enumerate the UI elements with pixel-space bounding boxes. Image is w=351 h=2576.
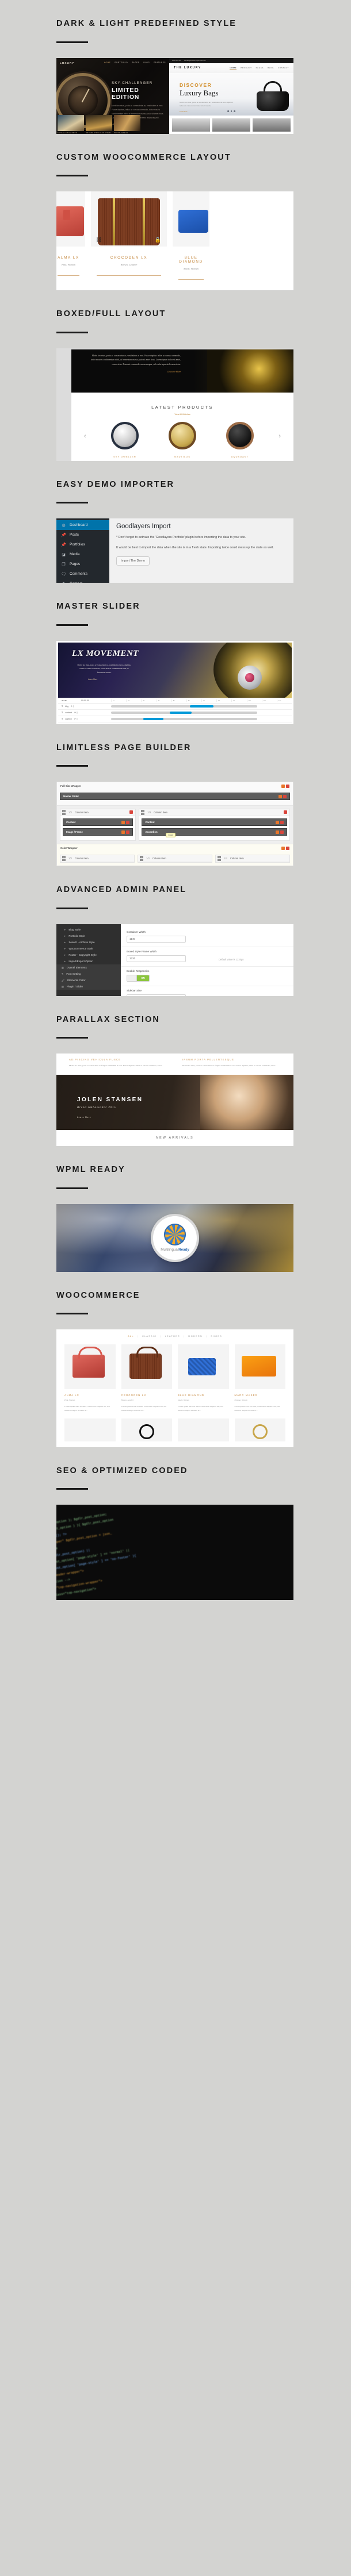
- product-filters: ALL| CLASSIC| LEATHER| MODERN| SHOES: [64, 1335, 285, 1337]
- dashboard-icon: ◍: [61, 523, 66, 528]
- light-menu-item-blog[interactable]: BLOG: [268, 67, 274, 70]
- builder-column[interactable]: +− 1/3 Column Item: [138, 855, 212, 863]
- field-enable-responsive: Enable Responsive ON: [121, 967, 293, 986]
- title-rule: [56, 624, 88, 626]
- product-grid-row-2: [64, 1418, 285, 1441]
- light-thumb-row: [169, 116, 293, 132]
- topbar-email: contact@theluxurywptheme.com: [184, 60, 206, 61]
- title-rule: [56, 332, 88, 333]
- compare-icon[interactable]: ⛓: [96, 237, 102, 243]
- caret-icon: ➤: [64, 960, 66, 963]
- menu-label: Font Setting: [66, 972, 81, 975]
- grid-icon: ▥: [62, 966, 64, 969]
- dark-headline: LIMITED EDITION: [112, 87, 166, 101]
- column-header[interactable]: +− 2/3 Column Item: [139, 809, 289, 816]
- column-header[interactable]: +− 1/3 Column Item: [60, 855, 134, 862]
- product-card[interactable]: [121, 1418, 173, 1441]
- light-menu-item-home[interactable]: HOME: [230, 67, 236, 70]
- product-image: [56, 191, 85, 247]
- menu-item-woocommerce-style[interactable]: ➤Woocommerce Style: [56, 945, 121, 952]
- menu-label: Blog Style: [68, 928, 81, 931]
- product-category: Orange, Women: [235, 1399, 286, 1401]
- product-image: [178, 1418, 229, 1441]
- product-image: [121, 1418, 173, 1441]
- divider: [97, 275, 161, 276]
- container-width-input[interactable]: 1140: [127, 936, 186, 943]
- thumb-image-1[interactable]: [58, 115, 84, 131]
- intro-column: IPSUM PORTA PELLENTESQUE Morbi leo risus…: [182, 1058, 281, 1068]
- master-slider-screenshot: LX MOVEMENT Morbi leo risus, porta ac co…: [56, 641, 293, 724]
- product-name: BLUE DIAMOND: [178, 1394, 229, 1397]
- badge-text-ready: Ready: [178, 1248, 189, 1252]
- model-photo: [200, 1075, 293, 1130]
- product-name: NAUTILUS: [163, 455, 201, 458]
- sidebar-item-posts[interactable]: 📌 Posts: [56, 530, 109, 540]
- light-menu-item-product[interactable]: PRODUCT: [241, 67, 252, 70]
- delete-icon[interactable]: [284, 810, 287, 814]
- caret-icon: ➤: [64, 935, 66, 937]
- title-rule: [56, 41, 88, 43]
- thumb-image-3[interactable]: [114, 115, 140, 131]
- section-title: BOXED/FULL LAYOUT: [56, 290, 351, 318]
- gear-image: [207, 349, 293, 393]
- divider: [58, 275, 79, 276]
- product-card[interactable]: ALMA LX Pink, Women Lorem ipsum dolor si…: [64, 1344, 116, 1413]
- menu-label: Search - Archive Style: [68, 941, 94, 944]
- product-name: SKY DWELLER: [106, 455, 144, 458]
- divider: [178, 279, 204, 280]
- section-header: BOXED/FULL LAYOUT: [0, 290, 351, 333]
- product-card[interactable]: [64, 1418, 116, 1441]
- filter-shoes[interactable]: SHOES: [211, 1335, 222, 1337]
- product-card[interactable]: [178, 1418, 229, 1441]
- section-parallax: PARALLAX SECTION ADIPISCING VEHICULA FUS…: [0, 996, 351, 1147]
- dark-menu-item-home[interactable]: HOME: [104, 61, 111, 64]
- builder-column[interactable]: +− 2/3 Column Item Content Accordion: [139, 809, 290, 841]
- importer-panel: Goodlayers Import * Don't forget to acti…: [109, 518, 293, 583]
- thumb-image-2[interactable]: [86, 115, 112, 131]
- seo-screenshot: $gdlr_page_option ); $gdlr_post_option; …: [56, 1505, 293, 1600]
- section-title: WPML READY: [56, 1146, 351, 1174]
- light-menu-item-pages[interactable]: PAGES: [256, 67, 264, 70]
- builder-module-master-slider[interactable]: Master Slider: [60, 793, 290, 800]
- dark-kicker: SKY-CHALLENGER: [112, 81, 166, 85]
- title-rule: [56, 765, 88, 767]
- dark-menu-item-pages[interactable]: PAGES: [132, 61, 139, 64]
- menu-label: Elements Color: [67, 979, 85, 982]
- builder-module-content[interactable]: Content: [63, 818, 133, 826]
- product-subtitle: Brown, Leather: [91, 263, 167, 266]
- woocommerce-layout-screenshot: ALMA LX Pink, Women ⛓ 🔒 CROCODEN LX Brow…: [56, 191, 293, 290]
- slider-stage: LX MOVEMENT Morbi leo risus, porta ac co…: [58, 643, 292, 698]
- slide-title: LX MOVEMENT: [72, 649, 139, 659]
- light-paragraph: Morbi leo risus, porta ac consectetur ac…: [180, 101, 236, 108]
- menu-label: Portfolio Style: [68, 935, 85, 937]
- builder-column[interactable]: +− 1/3 Column Item: [215, 855, 290, 863]
- delete-icon[interactable]: [280, 821, 284, 824]
- watch-image: [226, 422, 254, 449]
- parallax-learn-more-link[interactable]: Learn More: [77, 1116, 91, 1118]
- settings-icon[interactable]: [121, 821, 125, 824]
- multilingual-ready-badge: MultilingualReady: [153, 1216, 197, 1260]
- dark-style-preview: LUXURY HOME PORTFOLIO PAGES BLOG FEATURE…: [56, 58, 169, 134]
- parallax-intro-columns: ADIPISCING VEHICULA FUSCE Morbi leo risu…: [56, 1054, 293, 1075]
- section-header: LIMITLESS PAGE BUILDER: [0, 724, 351, 767]
- section-master-slider: MASTER SLIDER LX MOVEMENT Morbi leo risu…: [0, 583, 351, 724]
- column-header[interactable]: +− 1/3 Column Item: [216, 855, 289, 862]
- section-title: DARK & LIGHT PREDEFINED STYLE: [56, 0, 351, 28]
- product-title: CROCODEN LX: [91, 256, 167, 260]
- pin-icon: 📌: [61, 533, 66, 537]
- title-rule: [56, 175, 88, 176]
- demo-importer-screenshot: ◍ Dashboard 📌 Posts 📌 Portfolios ◪ Media…: [56, 518, 293, 583]
- product-title: BLUE DIAMOND: [173, 256, 209, 264]
- timecode: 00:00.00: [81, 699, 111, 702]
- product-card[interactable]: BLUE DIAMOND Small, Women: [173, 191, 209, 290]
- product-category: Small, Women: [178, 1399, 229, 1401]
- builder-columns: +− 1/3 Column Item Content Image / Fr: [57, 806, 293, 844]
- product-subtitle: Pink, Women: [56, 263, 85, 266]
- column-label: Column Item: [75, 811, 89, 814]
- color-wrapper: Color Wrapper +− 1/3 Column Item: [57, 844, 293, 866]
- menu-label: Woocommerce Style: [68, 947, 93, 950]
- title-rule: [56, 1037, 88, 1039]
- delete-icon[interactable]: [126, 821, 129, 824]
- layer-options-icon[interactable]: ⟳ ▯: [74, 712, 78, 714]
- module-label: Content: [145, 821, 154, 824]
- column-fraction: 1/3: [224, 857, 227, 860]
- product-name: MARC MASER: [235, 1394, 286, 1397]
- product-item[interactable]: NAUTILUS Identity, Sport, Website: [163, 422, 201, 461]
- menu-item-search-archive-style[interactable]: ➤Search - Archive Style: [56, 939, 121, 945]
- menu-item-import-export-option[interactable]: ➤Import/Export Option: [56, 958, 121, 964]
- toggle-state: ON: [137, 975, 149, 981]
- sidebar-item-pages[interactable]: ❐ Pages: [56, 559, 109, 569]
- sidebar-item-media[interactable]: ◪ Media: [56, 549, 109, 559]
- settings-icon[interactable]: [121, 831, 125, 834]
- product-category: Pink, Women: [64, 1399, 116, 1401]
- section-header: CUSTOM WOOCOMMERCE LAYOUT: [0, 134, 351, 177]
- caret-icon: ➤: [64, 947, 66, 950]
- import-demo-button[interactable]: Import The Demo: [116, 556, 150, 566]
- dark-light-screenshot: LUXURY HOME PORTFOLIO PAGES BLOG FEATURE…: [56, 58, 293, 134]
- light-nav: THE LUXURY HOME PRODUCT PAGES BLOG CONTA…: [169, 63, 293, 73]
- prev-arrow-icon[interactable]: ‹: [84, 433, 86, 440]
- boxed-discover-link[interactable]: Discover More: [71, 371, 181, 373]
- product-card[interactable]: BLUE DIAMOND Small, Women Lorem ipsum do…: [178, 1344, 229, 1413]
- section-title: EASY DEMO IMPORTER: [56, 461, 351, 489]
- product-subtitle: Small, Women: [173, 267, 209, 270]
- menu-item-font-setting[interactable]: ✎Font Setting: [56, 971, 121, 977]
- field-label: Boxed Style Frame Width: [127, 950, 213, 953]
- section-woocommerce: WOOCOMMERCE ALL| CLASSIC| LEATHER| MODER…: [0, 1272, 351, 1447]
- product-image: [64, 1344, 116, 1389]
- product-image: [64, 1418, 116, 1441]
- column-label: Column Item: [154, 811, 167, 814]
- layer-options-icon[interactable]: ⟳ ▯: [71, 705, 74, 708]
- product-item[interactable]: AQUADANT Leather, Sport, Website: [221, 422, 259, 461]
- lock-icon[interactable]: 🔒: [155, 237, 161, 243]
- product-item[interactable]: SKY DWELLER Fashion, Photograph, Website: [106, 422, 144, 461]
- column-size-stepper[interactable]: +−: [140, 856, 143, 862]
- color-wrapper-label: Color Wrapper: [60, 847, 78, 849]
- menu-label: Import/Export Option: [68, 960, 93, 963]
- menu-label: Plugin / Slider: [67, 985, 83, 988]
- light-topbar: 0800 222 222 contact@theluxurywptheme.co…: [169, 58, 293, 63]
- layer-name: caption: [65, 718, 72, 720]
- menu-item-plugin-slider[interactable]: ▤Plugin / Slider: [56, 983, 121, 990]
- menu-item-footer-copyright-style[interactable]: ➤Footer - Copyright Style: [56, 952, 121, 958]
- section-header: EASY DEMO IMPORTER: [0, 461, 351, 504]
- comment-icon: 🗨: [61, 572, 66, 576]
- product-title: ALMA LX: [56, 256, 85, 260]
- watch-image: [169, 422, 196, 449]
- layer-options-icon[interactable]: ⟳ ▯: [74, 718, 78, 720]
- section-header: WPML READY: [0, 1146, 351, 1189]
- column-label: Column Item: [152, 857, 166, 860]
- color-wrapper-header[interactable]: Color Wrapper: [57, 844, 293, 852]
- settings-icon[interactable]: [276, 831, 279, 834]
- filter-leather[interactable]: LEATHER: [165, 1335, 180, 1337]
- light-thumb-3[interactable]: [253, 118, 291, 132]
- product-name: ALMA LX: [64, 1394, 116, 1397]
- layer-name: bkg: [65, 705, 68, 708]
- wrapper-header[interactable]: Full Size Wrapper: [57, 782, 293, 790]
- sidebar-label: Pages: [70, 562, 80, 566]
- delete-icon[interactable]: [129, 810, 133, 814]
- column-size-stepper[interactable]: +−: [62, 856, 66, 862]
- section-header: ADVANCED ADMIN PANEL: [0, 866, 351, 909]
- column-size-stepper[interactable]: +−: [218, 856, 221, 862]
- title-rule: [56, 1313, 88, 1314]
- builder-wrapper: Full Size Wrapper Master Slider: [57, 782, 293, 806]
- light-style-preview: 0800 222 222 contact@theluxurywptheme.co…: [169, 58, 293, 134]
- intro-text: Morbi leo risus, porta ac consectetur ac…: [182, 1064, 281, 1068]
- title-rule: [56, 1488, 88, 1490]
- light-slider-dots[interactable]: [227, 110, 235, 112]
- sidebar-item-portfolios[interactable]: 📌 Portfolios: [56, 540, 109, 549]
- dark-menu-item-portfolio[interactable]: PORTFOLIO: [115, 61, 128, 64]
- wpml-screenshot: MultilingualReady: [56, 1204, 293, 1272]
- bottom-spacer: [0, 1600, 351, 1625]
- timeline-track[interactable]: [111, 718, 257, 720]
- light-hero: DISCOVER Luxury Bags Morbi leo risus, po…: [169, 73, 293, 116]
- light-thumb-1[interactable]: [172, 118, 210, 132]
- product-card[interactable]: CROCODEN LX Brown, Leather Lorem ipsum d…: [121, 1344, 173, 1413]
- column-fraction: 1/3: [68, 811, 72, 814]
- sidebar-item-dashboard[interactable]: ◍ Dashboard: [56, 520, 109, 530]
- delete-icon[interactable]: [286, 785, 289, 788]
- admin-panel-screenshot: ➤Blog Style ➤Portfolio Style ➤Search - A…: [56, 924, 293, 996]
- menu-item-overall-elements[interactable]: ▥Overall Elements: [56, 964, 121, 971]
- new-arrivals-heading: NEW ARRIVALS: [56, 1130, 293, 1146]
- caret-icon: ➤: [64, 941, 66, 944]
- light-kicker: DISCOVER: [180, 82, 236, 88]
- column-header[interactable]: +− 1/3 Column Item: [60, 809, 135, 816]
- dark-menu: HOME PORTFOLIO PAGES BLOG FEATURES: [104, 61, 166, 64]
- builder-column[interactable]: +− 1/3 Column Item Content Image / Fr: [60, 809, 136, 841]
- plugin-icon: ▤: [62, 985, 64, 988]
- pages-icon: ❐: [61, 562, 66, 567]
- menu-label: Overall Elements: [67, 966, 87, 969]
- sidebar-label: Dashboard: [70, 523, 87, 527]
- timeline-track[interactable]: [111, 705, 257, 708]
- product-image: [173, 191, 209, 247]
- sidebar-label: Comments: [70, 572, 87, 576]
- dark-logo: LUXURY: [60, 61, 74, 64]
- section-header: WOOCOMMERCE: [0, 1272, 351, 1315]
- timeline-row[interactable]: Tbkg ⟳ ▯: [58, 703, 292, 710]
- timeline-ticks: 1s2s 3s4s 5s6s 7s8s 9s10s 11s12s: [111, 699, 292, 702]
- product-description: Lorem ipsum dolor sit amet, consectetur …: [121, 1405, 173, 1413]
- intro-text: Morbi leo risus, porta ac consectetur ac…: [69, 1064, 167, 1068]
- intro-column: ADIPISCING VEHICULA FUSCE Morbi leo risu…: [69, 1058, 167, 1068]
- column-header[interactable]: +− 1/3 Column Item: [138, 855, 212, 862]
- product-card[interactable]: [235, 1418, 286, 1441]
- product-image: [178, 1344, 229, 1389]
- slide-learn-more-link[interactable]: Learn More: [88, 678, 97, 680]
- light-hero-copy: DISCOVER Luxury Bags Morbi leo risus, po…: [180, 82, 236, 113]
- light-menu: HOME PRODUCT PAGES BLOG CONTACT: [230, 67, 289, 70]
- sidebar-label: Posts: [70, 533, 79, 537]
- sidebar-label: Media: [70, 552, 79, 556]
- light-logo: THE LUXURY: [174, 66, 201, 70]
- timeline-row[interactable]: Tcontent ⟳ ▯: [58, 710, 292, 716]
- product-category: Brown, Leather: [121, 1399, 173, 1401]
- wp-admin-sidebar: ◍ Dashboard 📌 Posts 📌 Portfolios ◪ Media…: [56, 518, 109, 583]
- enable-responsive-toggle[interactable]: ON: [127, 975, 150, 982]
- module-label: Image / Frame: [66, 831, 83, 833]
- settings-icon[interactable]: [281, 785, 285, 788]
- parallax-screenshot: ADIPISCING VEHICULA FUSCE Morbi leo risu…: [56, 1054, 293, 1146]
- filter-all[interactable]: ALL: [128, 1335, 134, 1337]
- wrapper-label: Full Size Wrapper: [60, 785, 81, 787]
- builder-module-content[interactable]: Content: [142, 818, 287, 826]
- section-demo-importer: EASY DEMO IMPORTER ◍ Dashboard 📌 Posts 📌…: [0, 461, 351, 583]
- settings-icon[interactable]: [278, 795, 282, 798]
- section-title: ADVANCED ADMIN PANEL: [56, 866, 351, 894]
- topbar-phone: 0800 222 222: [172, 60, 181, 61]
- caret-icon: ➤: [64, 928, 66, 931]
- globe-icon: [164, 1224, 186, 1245]
- field-label: Enable Responsive: [127, 970, 213, 972]
- section-wpml: WPML READY MultilingualReady: [0, 1146, 351, 1272]
- ambassador-name: JOLEN STANSEN: [77, 1097, 143, 1103]
- filter-classic[interactable]: CLASSIC: [142, 1335, 157, 1337]
- section-dark-light: DARK & LIGHT PREDEFINED STYLE LUXURY HOM…: [0, 0, 351, 134]
- column-label: Column Item: [75, 857, 89, 860]
- woocommerce-screenshot: ALL| CLASSIC| LEATHER| MODERN| SHOES ALM…: [56, 1329, 293, 1447]
- light-menu-item-contact[interactable]: CONTACT: [278, 67, 289, 70]
- product-card[interactable]: MARC MASER Orange, Women Lorem ipsum dol…: [235, 1344, 286, 1413]
- section-woocommerce-layout: CUSTOM WOOCOMMERCE LAYOUT ALMA LX Pink, …: [0, 134, 351, 291]
- section-title: CUSTOM WOOCOMMERCE LAYOUT: [56, 134, 351, 162]
- product-grid: ALMA LX Pink, Women Lorem ipsum dolor si…: [64, 1344, 285, 1413]
- module-label: Accordion: [145, 831, 157, 833]
- timeline-controls[interactable]: ●●■: [58, 699, 81, 702]
- section-title: WOOCOMMERCE: [56, 1272, 351, 1300]
- product-image: [235, 1418, 286, 1441]
- badge-text-multilingual: Multilingual: [161, 1248, 178, 1252]
- filter-modern[interactable]: MODERN: [188, 1335, 203, 1337]
- intro-title: ADIPISCING VEHICULA FUSCE: [69, 1058, 167, 1061]
- builder-module-image-frame[interactable]: Image / Frame: [63, 828, 133, 836]
- close-tooltip: Close: [166, 833, 175, 837]
- section-boxed-full: BOXED/FULL LAYOUT Morbi leo risus, porta…: [0, 290, 351, 461]
- timeline-track[interactable]: [111, 712, 257, 714]
- column-size-stepper[interactable]: +−: [62, 810, 66, 816]
- light-thumb-2[interactable]: [212, 118, 250, 132]
- boxed-intro-text: Morbi leo risus, porta ac consectetur ac…: [71, 349, 181, 368]
- field-boxed-style-frame-width: Boxed Style Frame Width 1220 Default val…: [121, 947, 293, 967]
- title-rule: [56, 502, 88, 503]
- timeline-header: ●●■ 00:00.00 1s2s 3s4s 5s6s 7s8s 9s10s 1…: [58, 698, 292, 703]
- product-image: ⛓ 🔒: [91, 191, 167, 247]
- menu-item-portfolio-style[interactable]: ➤Portfolio Style: [56, 933, 121, 939]
- section-title: MASTER SLIDER: [56, 583, 351, 611]
- menu-item-blog-style[interactable]: ➤Blog Style: [56, 926, 121, 933]
- column-size-stepper[interactable]: +−: [141, 810, 144, 816]
- menu-item-elements-color[interactable]: 🖌Elements Color: [56, 977, 121, 983]
- section-header: DARK & LIGHT PREDEFINED STYLE: [0, 0, 351, 43]
- slide-body: Morbi leo risus, porta ac consectetur ac…: [75, 663, 133, 675]
- delete-icon[interactable]: [126, 831, 129, 834]
- field-sidebar-size: Sidebar Size 300: [121, 986, 293, 996]
- view-all-watches-link[interactable]: View All Watches: [71, 413, 293, 416]
- caret-icon: ➤: [64, 953, 66, 956]
- product-description: Lorem ipsum dolor sit amet, consectetur …: [64, 1405, 116, 1413]
- sidebar-item-contact[interactable]: ⚙ Contact: [56, 579, 109, 583]
- watch-image: [111, 422, 139, 449]
- dark-nav: LUXURY HOME PORTFOLIO PAGES BLOG FEATURE…: [56, 58, 169, 66]
- section-title: PARALLAX SECTION: [56, 996, 351, 1024]
- handbag-image: [257, 81, 289, 111]
- parallax-hero: JOLEN STANSEN Brand Ambassador 2015 Lear…: [56, 1075, 293, 1130]
- delete-icon[interactable]: [286, 847, 289, 850]
- next-arrow-icon[interactable]: ›: [278, 433, 281, 440]
- latest-products-band: LATEST PRODUCTS View All Watches ‹ › SKY…: [71, 393, 293, 461]
- pin-icon: 📌: [61, 543, 66, 547]
- builder-module-accordion[interactable]: Accordion: [142, 828, 287, 836]
- latest-products-heading: LATEST PRODUCTS: [71, 393, 293, 410]
- product-card[interactable]: ALMA LX Pink, Women: [56, 191, 85, 290]
- builder-column[interactable]: +− 1/3 Column Item: [60, 855, 135, 863]
- delete-icon[interactable]: [283, 795, 287, 798]
- product-description: Lorem ipsum dolor sit amet, consectetur …: [235, 1405, 286, 1413]
- product-card[interactable]: ⛓ 🔒 CROCODEN LX Brown, Leather: [91, 191, 167, 290]
- timeline-row[interactable]: Tcaption ⟳ ▯: [58, 716, 292, 722]
- boxed-intro-band: Morbi leo risus, porta ac consectetur ac…: [71, 349, 293, 393]
- delete-icon[interactable]: [280, 831, 284, 834]
- column-fraction: 1/3: [68, 857, 72, 860]
- intro-title: IPSUM PORTA PELLENTESQUE: [182, 1058, 281, 1061]
- page-builder-screenshot: Full Size Wrapper Master Slider: [56, 782, 293, 866]
- sidebar-item-comments[interactable]: 🗨 Comments: [56, 569, 109, 579]
- field-container-width: Container Width 1140: [121, 928, 293, 947]
- field-label: Container Width: [127, 931, 213, 933]
- settings-icon[interactable]: [281, 847, 285, 850]
- field-label: Sidebar Size: [127, 989, 213, 992]
- module-label: Content: [66, 821, 75, 824]
- dark-menu-item-blog[interactable]: BLOG: [143, 61, 150, 64]
- section-header: PARALLAX SECTION: [0, 996, 351, 1039]
- column-fraction: 1/3: [146, 857, 150, 860]
- dark-menu-item-features[interactable]: FEATURES: [154, 61, 166, 64]
- admin-panel-menu: ➤Blog Style ➤Portfolio Style ➤Search - A…: [56, 924, 121, 996]
- settings-icon[interactable]: [276, 821, 279, 824]
- boxed-frame-width-input[interactable]: 1220: [127, 955, 186, 962]
- importer-note-2: It would be best to import the data when…: [116, 545, 288, 551]
